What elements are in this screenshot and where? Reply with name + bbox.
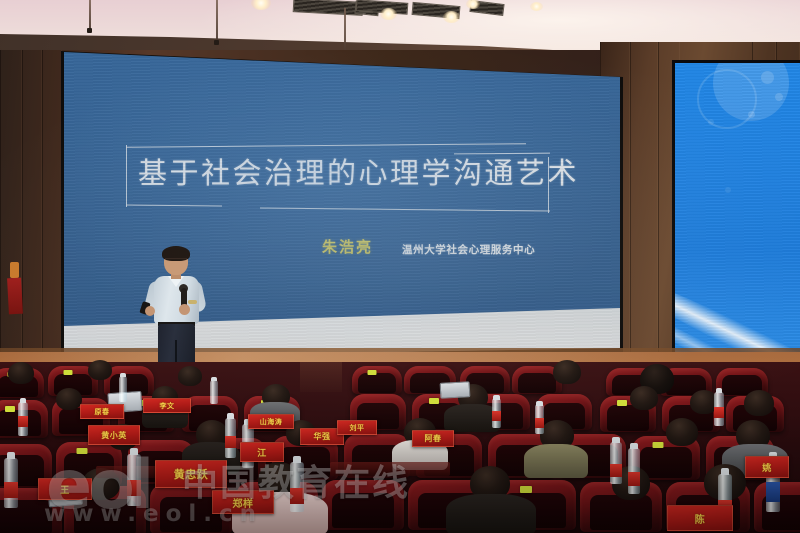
title-box-border-left — [126, 145, 127, 207]
water-bottle — [225, 418, 236, 458]
nameplate: 山海涛 — [248, 414, 294, 429]
seat-number-tag — [5, 406, 15, 412]
seat-number-tag — [368, 370, 377, 375]
bottle-label — [18, 416, 28, 427]
nameplate-text: 阿春 — [425, 433, 442, 444]
bottle-label — [610, 464, 622, 477]
seat[interactable] — [352, 366, 402, 394]
water-bottle — [535, 404, 544, 434]
bottle-cap — [612, 437, 620, 443]
aisle — [300, 362, 342, 392]
nameplate: 原春 — [80, 404, 124, 419]
bokeh-circle — [761, 71, 774, 84]
audience-head — [666, 418, 698, 446]
nameplate-text: 山海涛 — [260, 417, 283, 427]
slide-title-text: 基于社会治理的心理学沟通艺术 — [138, 151, 550, 195]
nameplate-text: 原春 — [95, 407, 110, 417]
bottle-cap — [716, 388, 722, 393]
water-bottle — [290, 462, 304, 512]
wall-panel — [0, 50, 22, 390]
bokeh-ring — [697, 69, 757, 129]
nameplate: 刘平 — [337, 420, 377, 435]
bottle-label — [628, 472, 640, 486]
audience-head — [553, 360, 581, 384]
nameplate: 江 — [240, 442, 284, 462]
downlight-2 — [380, 8, 397, 20]
audience-shoulders — [446, 494, 536, 533]
wall-panel — [42, 50, 62, 390]
seat-cushion — [332, 493, 394, 528]
bottle-cap — [630, 443, 638, 449]
water-bottle — [628, 448, 640, 494]
water-bottle — [4, 458, 18, 508]
nameplate: 阿春 — [412, 430, 454, 447]
audience-head — [178, 366, 202, 386]
nameplate: 姚 — [745, 456, 789, 478]
wristwatch — [188, 300, 197, 304]
downlight-5 — [530, 2, 543, 11]
slide-speaker-name: 朱浩亮 — [322, 236, 373, 257]
bottle-label — [535, 418, 544, 428]
seat-cushion — [640, 447, 692, 478]
bottle-label — [290, 488, 304, 504]
water-bottle — [210, 380, 218, 404]
nameplate-text: 王 — [60, 483, 70, 496]
bottle-label — [4, 482, 18, 498]
slide-speaker-organization: 温州大学社会心理服务中心 — [402, 242, 535, 257]
ceiling-hanger-2 — [216, 0, 218, 42]
title-box-border-bottom-2 — [260, 207, 550, 211]
bottle-cap — [293, 456, 301, 463]
bottle-cap — [7, 452, 15, 459]
seat[interactable] — [322, 480, 404, 530]
bottle-cap — [493, 395, 500, 400]
bottle-cap — [536, 401, 543, 406]
presenter — [145, 248, 207, 370]
audience-head — [744, 390, 774, 416]
bokeh-circle — [748, 111, 755, 118]
water-bottle — [119, 376, 127, 402]
bottle-label — [714, 407, 724, 418]
presenter-right-hand — [179, 304, 190, 315]
photo-scene: 基于社会治理的心理学沟通艺术 朱浩亮 温州大学社会心理服务中心 — [0, 0, 800, 533]
seat-cushion — [358, 373, 396, 393]
ceiling-hanger-tip-1 — [87, 28, 92, 33]
downlight-3 — [443, 11, 460, 23]
side-led-screen — [675, 63, 800, 375]
bottle-cap — [120, 373, 126, 377]
ceiling-hanger-tip-2 — [214, 40, 219, 45]
wall-panel — [22, 50, 42, 390]
ceiling-hanger-1 — [89, 0, 91, 30]
bottle-cap — [211, 377, 217, 381]
bottle-cap — [20, 398, 26, 403]
audience-head — [8, 362, 34, 384]
nameplate-text: 陈 — [695, 511, 706, 526]
audience-shoulders — [524, 444, 588, 478]
bokeh-circle — [725, 187, 731, 193]
water-bottle — [714, 392, 724, 426]
bottle-label — [492, 411, 501, 421]
title-box-border-top — [126, 143, 526, 148]
nameplate-text: 刘平 — [350, 423, 365, 433]
nameplate: 王 — [38, 478, 92, 500]
bottle-cap — [227, 413, 234, 419]
seat-number-tag — [64, 370, 73, 375]
title-box-border-bottom — [126, 204, 222, 206]
water-bottle — [18, 402, 28, 436]
presenter-left-hand — [145, 306, 155, 316]
nameplate-text: 李文 — [160, 401, 175, 411]
seat-number-tag — [617, 400, 627, 406]
nameplate: 黄小英 — [88, 425, 140, 445]
glasses-icon — [165, 258, 187, 263]
wall-banner-top — [10, 262, 19, 278]
seat-cushion — [590, 495, 652, 530]
seat-cushion — [518, 373, 556, 393]
audience-head — [630, 386, 658, 410]
nameplate: 李文 — [143, 398, 191, 413]
audience-head — [88, 360, 112, 380]
nameplate-text: 姚 — [762, 461, 772, 474]
seat-number-tag — [520, 486, 532, 493]
seat-number-tag — [653, 442, 664, 448]
bokeh-circle — [775, 93, 783, 101]
bottle-label — [127, 480, 141, 496]
slide-title-box: 基于社会治理的心理学沟通艺术 — [124, 143, 564, 217]
bottle-cap — [721, 468, 729, 475]
nameplate-text: 黄小英 — [101, 430, 127, 441]
nameplate-text: 郑样 — [233, 495, 254, 510]
desk — [330, 462, 450, 476]
water-bottle — [610, 442, 622, 484]
water-bottle — [127, 454, 141, 506]
bottle-label — [766, 482, 780, 502]
nameplate-text: 江 — [257, 446, 267, 459]
nameplate: 郑样 — [212, 490, 274, 514]
bokeh-circle — [708, 119, 714, 125]
audience-head — [56, 388, 82, 410]
bottle-label — [225, 436, 236, 448]
water-bottle — [492, 398, 501, 428]
bottle-cap — [130, 448, 138, 455]
wall-banner — [7, 278, 23, 315]
nameplate: 陈 — [667, 505, 733, 531]
seat-number-tag — [429, 398, 439, 404]
nameplate-text: 黄忠跃 — [174, 466, 209, 482]
nameplate: 黄忠跃 — [155, 460, 227, 488]
seat-number-tag — [77, 448, 88, 454]
laptop — [440, 381, 471, 399]
nameplate-text: 华强 — [314, 431, 331, 442]
